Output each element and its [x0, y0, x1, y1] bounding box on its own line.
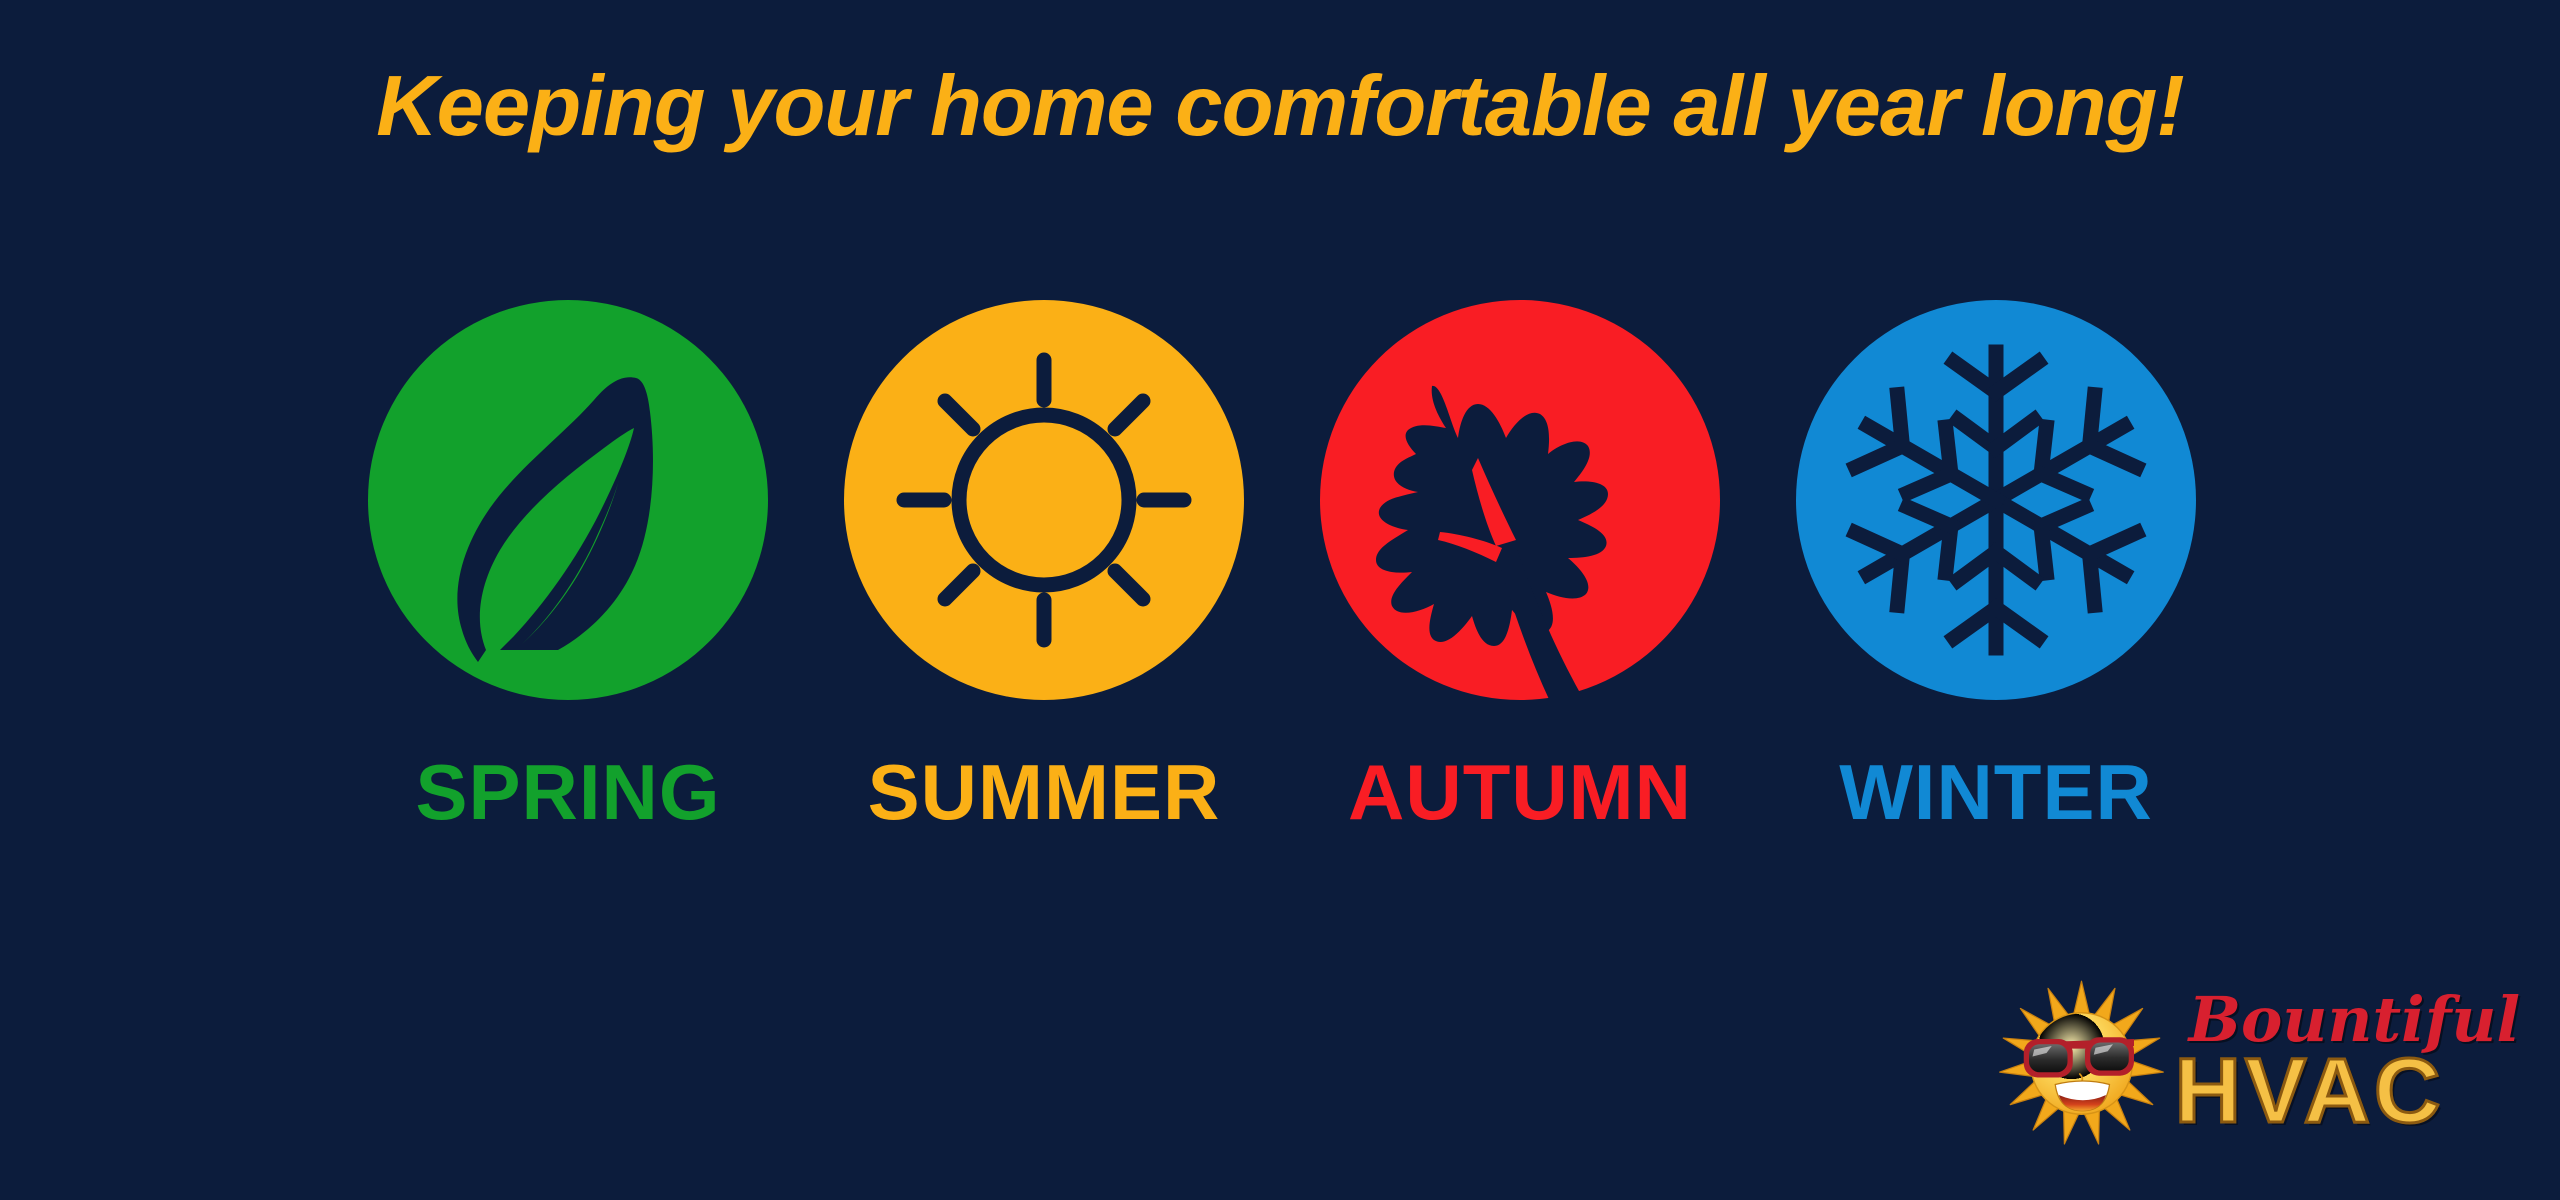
season-label-winter: WINTER [1839, 753, 2153, 831]
logo-wordmark: Bountiful HVAC [2175, 989, 2520, 1137]
winter-badge [1796, 300, 2196, 700]
logo-block-word: HVAC [2175, 1045, 2445, 1137]
seasons-row: SPRING [368, 300, 2196, 880]
season-item-summer[interactable]: SUMMER [844, 300, 1244, 831]
seasons-promo-banner: Keeping your home comfortable all year l… [0, 0, 2560, 1200]
maple-leaf-icon [1320, 300, 1720, 700]
snowflake-icon [1796, 300, 2196, 700]
season-label-spring: SPRING [415, 753, 720, 831]
smiling-sun-with-sunglasses-icon [1994, 976, 2169, 1151]
season-label-autumn: AUTUMN [1348, 753, 1692, 831]
spring-badge [368, 300, 768, 700]
autumn-badge [1320, 300, 1720, 700]
sun-icon [844, 300, 1244, 700]
season-label-summer: SUMMER [868, 753, 1221, 831]
season-item-spring[interactable]: SPRING [368, 300, 768, 831]
season-item-autumn[interactable]: AUTUMN [1320, 300, 1720, 831]
season-item-winter[interactable]: WINTER [1796, 300, 2196, 831]
leaf-icon [368, 300, 768, 700]
brand-logo[interactable]: Bountiful HVAC [1994, 968, 2520, 1158]
summer-badge [844, 300, 1244, 700]
headline-text: Keeping your home comfortable all year l… [0, 58, 2560, 156]
